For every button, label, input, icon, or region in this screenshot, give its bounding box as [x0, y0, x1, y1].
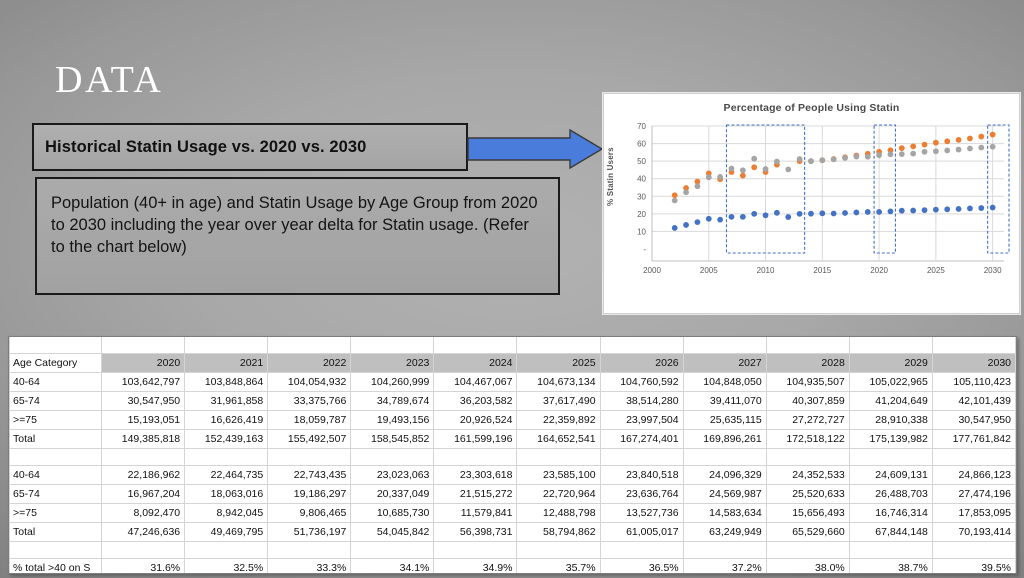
table-cell [102, 449, 185, 466]
table-cell [185, 449, 268, 466]
table-cell [600, 337, 683, 354]
table-year-header: 2025 [517, 354, 600, 373]
chart-x-tick: 2010 [757, 266, 775, 275]
chart-point [740, 173, 746, 179]
table-body: Age Category2020202120222023202420252026… [10, 337, 1016, 574]
table-cell [517, 337, 600, 354]
table-cell: 32.5% [185, 559, 268, 575]
table-cell: 24,569,987 [683, 485, 766, 504]
table-spacer-row [10, 337, 1016, 354]
chart-point [683, 222, 689, 228]
table-cell: 54,045,842 [351, 523, 434, 542]
table-cell: 24,096,329 [683, 466, 766, 485]
table-cell: 12,488,798 [517, 504, 600, 523]
table-cell: 20,926,524 [434, 411, 517, 430]
table-year-header: 2022 [268, 354, 351, 373]
table-cell: 31,961,858 [185, 392, 268, 411]
chart-y-tick: 50 [637, 157, 646, 166]
table-cell: 30,547,950 [932, 411, 1015, 430]
heading-text: Historical Statin Usage vs. 2020 vs. 203… [34, 138, 366, 157]
chart-point [706, 216, 712, 222]
table-cell [849, 542, 932, 559]
chart-y-tick: 70 [637, 122, 646, 131]
chart-point [944, 206, 950, 212]
table-cell: 22,186,962 [102, 466, 185, 485]
table-cell: 39.5% [932, 559, 1015, 575]
table-row[interactable]: 40-64103,642,797103,848,864104,054,93210… [10, 373, 1016, 392]
chart-point [706, 174, 712, 180]
table-cell: 63,249,949 [683, 523, 766, 542]
table-cell: 104,260,999 [351, 373, 434, 392]
table-cell: 15,193,051 [102, 411, 185, 430]
chart-point [990, 144, 996, 150]
table-cell: 27,474,196 [932, 485, 1015, 504]
chart-point [978, 205, 984, 211]
chart-point [967, 146, 973, 152]
table-cell [932, 542, 1015, 559]
chart-point [922, 149, 928, 155]
description-callout-box: Population (40+ in age) and Statin Usage… [35, 177, 560, 295]
table-cell [683, 337, 766, 354]
table-cell: 41,204,649 [849, 392, 932, 411]
chart-point [978, 134, 984, 140]
table-year-header: 2020 [102, 354, 185, 373]
table-row-label: >=75 [10, 411, 102, 430]
chart-y-tick: - [643, 245, 646, 254]
table-row-label: % total >40 on S [10, 559, 102, 575]
table-cell: 103,848,864 [185, 373, 268, 392]
table-row[interactable]: 40-6422,186,96222,464,73522,743,43523,02… [10, 466, 1016, 485]
table-cell: 161,599,196 [434, 430, 517, 449]
table-cell: 51,736,197 [268, 523, 351, 542]
chart-point [763, 212, 769, 218]
chart-point [933, 140, 939, 146]
chart-title: Percentage of People Using Statin [604, 102, 1019, 114]
page-title: DATA [55, 61, 163, 99]
chart-x-tick: 2015 [813, 266, 831, 275]
table-cell: 23,997,504 [600, 411, 683, 430]
table-row[interactable]: >=758,092,4708,942,0459,806,46510,685,73… [10, 504, 1016, 523]
table-cell: 21,515,272 [434, 485, 517, 504]
table-cell: 103,642,797 [102, 373, 185, 392]
chart-point [865, 209, 871, 215]
chart-point [967, 136, 973, 142]
table-cell: 104,935,507 [766, 373, 849, 392]
table-year-header: 2023 [351, 354, 434, 373]
table-year-header: 2021 [185, 354, 268, 373]
chart-x-tick: 2005 [700, 266, 718, 275]
chart-point [695, 183, 701, 189]
table-cell: 38.0% [766, 559, 849, 575]
chart-point [751, 211, 757, 217]
table-cell: 13,527,736 [600, 504, 683, 523]
table-cell: 105,110,423 [932, 373, 1015, 392]
table-cell [351, 449, 434, 466]
table-year-header: 2024 [434, 354, 517, 373]
table-cell: 18,059,787 [268, 411, 351, 430]
table-row[interactable]: Total149,385,818152,439,163155,492,50715… [10, 430, 1016, 449]
chart-point [751, 156, 757, 162]
chart-point [899, 208, 905, 214]
chart-point [717, 217, 723, 223]
table-cell [268, 449, 351, 466]
table-cell: 18,063,016 [185, 485, 268, 504]
chart-x-tick: 2000 [643, 266, 661, 275]
chart-point [865, 154, 871, 160]
chart-point [910, 143, 916, 149]
table-cell: 65,529,660 [766, 523, 849, 542]
chart-point [899, 151, 905, 157]
chart-point [910, 151, 916, 157]
chart-point [842, 155, 848, 161]
chart-point [888, 151, 894, 157]
chart-point [774, 210, 780, 216]
chart-point [672, 192, 678, 198]
chart-point [797, 156, 803, 162]
chart-x-tick: 2025 [927, 266, 945, 275]
chart-point [944, 148, 950, 154]
table-cell: 39,411,070 [683, 392, 766, 411]
table-cell: 37,617,490 [517, 392, 600, 411]
chart-point [774, 159, 780, 165]
chart-y-tick: 30 [637, 192, 646, 201]
chart-point [740, 167, 746, 173]
table-cell: 15,656,493 [766, 504, 849, 523]
table-cell: 19,493,156 [351, 411, 434, 430]
table-cell: 56,398,731 [434, 523, 517, 542]
table-cell: 26,488,703 [849, 485, 932, 504]
chart-point [922, 207, 928, 213]
chart-point [831, 156, 837, 162]
table-cell: 61,005,017 [600, 523, 683, 542]
table-cell: 14,583,634 [683, 504, 766, 523]
chart-point [853, 154, 859, 160]
chart-point [785, 214, 791, 220]
table-cell [10, 542, 102, 559]
chart-y-tick: 40 [637, 175, 646, 184]
table-row-label: 40-64 [10, 373, 102, 392]
table-cell [268, 542, 351, 559]
table-cell: 38,514,280 [600, 392, 683, 411]
table-cell: 34.9% [434, 559, 517, 575]
chart-point [944, 138, 950, 144]
chart-y-tick: 10 [637, 227, 646, 236]
table-cell [434, 337, 517, 354]
table-cell: 104,054,932 [268, 373, 351, 392]
table-cell: 16,746,314 [849, 504, 932, 523]
table-cell: 177,761,842 [932, 430, 1015, 449]
table-cell: 104,848,050 [683, 373, 766, 392]
table-cell: 175,139,982 [849, 430, 932, 449]
chart-point [922, 142, 928, 148]
table-cell [351, 337, 434, 354]
table-cell: 149,385,818 [102, 430, 185, 449]
table-cell [185, 542, 268, 559]
table-cell [766, 449, 849, 466]
table-cell: 152,439,163 [185, 430, 268, 449]
table-row-label: 65-74 [10, 392, 102, 411]
table-year-header: 2026 [600, 354, 683, 373]
chart-point [876, 152, 882, 158]
chart-y-tick: 60 [637, 140, 646, 149]
statin-usage-chart: Percentage of People Using Statin % Stat… [603, 93, 1020, 314]
table-cell: 11,579,841 [434, 504, 517, 523]
chart-point [933, 207, 939, 213]
chart-point [819, 157, 825, 163]
table-cell: 22,720,964 [517, 485, 600, 504]
table-cell: 34,789,674 [351, 392, 434, 411]
table-cell: 172,518,122 [766, 430, 849, 449]
table-cell: 9,806,465 [268, 504, 351, 523]
table-year-header: 2029 [849, 354, 932, 373]
table-cell: 164,652,541 [517, 430, 600, 449]
table-cell [517, 542, 600, 559]
table-cell: 23,023,063 [351, 466, 434, 485]
chart-point [785, 167, 791, 173]
description-text: Population (40+ in age) and Statin Usage… [37, 179, 558, 259]
table-cell [102, 337, 185, 354]
table-row-label: Total [10, 523, 102, 542]
chart-point [751, 164, 757, 170]
table-cell [185, 337, 268, 354]
table-year-header: 2030 [932, 354, 1015, 373]
table-cell: 8,092,470 [102, 504, 185, 523]
table-cell: 16,626,419 [185, 411, 268, 430]
table-cell: 30,547,950 [102, 392, 185, 411]
table-cell [268, 337, 351, 354]
chart-point [695, 219, 701, 225]
table-cell: 31.6% [102, 559, 185, 575]
table-header-row: Age Category2020202120222023202420252026… [10, 354, 1016, 373]
table-cell: 22,464,735 [185, 466, 268, 485]
table-year-header: 2028 [766, 354, 849, 373]
table-row[interactable]: 65-7430,547,95031,961,85833,375,76634,78… [10, 392, 1016, 411]
table-cell: 28,910,338 [849, 411, 932, 430]
chart-x-tick: 2030 [984, 266, 1002, 275]
chart-highlight-year-2020 [874, 125, 895, 253]
table-cell: 27,272,727 [766, 411, 849, 430]
chart-point [729, 166, 735, 172]
table-cell: 104,673,134 [517, 373, 600, 392]
table-cell: 17,853,095 [932, 504, 1015, 523]
data-table-container[interactable]: Age Category2020202120222023202420252026… [8, 336, 1017, 574]
table-cell: 104,467,067 [434, 373, 517, 392]
table-cell: 167,274,401 [600, 430, 683, 449]
chart-point [797, 211, 803, 217]
table-cell: 36,203,582 [434, 392, 517, 411]
chart-point [672, 225, 678, 231]
chart-point [808, 211, 814, 217]
table-cell: 37.2% [683, 559, 766, 575]
chart-point [819, 210, 825, 216]
right-arrow-icon [466, 128, 604, 170]
table-year-header: 2027 [683, 354, 766, 373]
table-cell: 169,896,261 [683, 430, 766, 449]
table-cell: 70,193,414 [932, 523, 1015, 542]
table-cell: 23,636,764 [600, 485, 683, 504]
table-cell [849, 337, 932, 354]
chart-point [672, 198, 678, 204]
table-cell: 23,303,618 [434, 466, 517, 485]
table-cell [10, 337, 102, 354]
table-cell: 58,794,862 [517, 523, 600, 542]
table-cell [600, 449, 683, 466]
chart-point [978, 145, 984, 151]
table-row[interactable]: Total47,246,63649,469,79551,736,19754,04… [10, 523, 1016, 542]
table-cell [600, 542, 683, 559]
table-cell: 47,246,636 [102, 523, 185, 542]
chart-x-tick: 2020 [870, 266, 888, 275]
table-cell [766, 337, 849, 354]
table-cell: 10,685,730 [351, 504, 434, 523]
chart-highlight-year-2030 [988, 125, 1009, 253]
table-cell [849, 449, 932, 466]
chart-point [933, 148, 939, 154]
table-cell [434, 449, 517, 466]
table-cell: 24,609,131 [849, 466, 932, 485]
table-cell: 42,101,439 [932, 392, 1015, 411]
table-cell [351, 542, 434, 559]
table-row-label: Total [10, 430, 102, 449]
chart-point [831, 211, 837, 217]
chart-point [967, 206, 973, 212]
table-cell: 22,359,892 [517, 411, 600, 430]
chart-point [842, 210, 848, 216]
table-cell: 67,844,148 [849, 523, 932, 542]
table-cell: 23,585,100 [517, 466, 600, 485]
presentation-slide: DATA Historical Statin Usage vs. 2020 vs… [0, 0, 1024, 578]
table-cell: 19,186,297 [268, 485, 351, 504]
table-corner-label: Age Category [10, 354, 102, 373]
table-cell: 33,375,766 [268, 392, 351, 411]
chart-point [717, 174, 723, 180]
table-row[interactable]: % total >40 on S31.6%32.5%33.3%34.1%34.9… [10, 559, 1016, 575]
table-cell: 36.5% [600, 559, 683, 575]
table-cell: 25,635,115 [683, 411, 766, 430]
chart-point [729, 214, 735, 220]
table-row-label: 40-64 [10, 466, 102, 485]
table-cell: 24,866,123 [932, 466, 1015, 485]
table-cell: 34.1% [351, 559, 434, 575]
table-row-label: 65-74 [10, 485, 102, 504]
table-cell [434, 542, 517, 559]
table-cell: 33.3% [268, 559, 351, 575]
table-cell: 105,022,965 [849, 373, 932, 392]
table-cell: 49,469,795 [185, 523, 268, 542]
table-cell: 40,307,859 [766, 392, 849, 411]
table-cell: 25,520,633 [766, 485, 849, 504]
chart-point [763, 166, 769, 172]
statin-data-table: Age Category2020202120222023202420252026… [9, 337, 1016, 574]
table-cell: 22,743,435 [268, 466, 351, 485]
chart-point [740, 214, 746, 220]
table-cell: 35.7% [517, 559, 600, 575]
table-cell: 104,760,592 [600, 373, 683, 392]
chart-point [956, 206, 962, 212]
chart-point [899, 145, 905, 151]
table-cell [766, 542, 849, 559]
table-row-label: >=75 [10, 504, 102, 523]
chart-point [956, 137, 962, 143]
table-row[interactable]: >=7515,193,05116,626,41918,059,78719,493… [10, 411, 1016, 430]
table-cell: 20,337,049 [351, 485, 434, 504]
table-cell [102, 542, 185, 559]
table-cell [683, 542, 766, 559]
table-cell: 24,352,533 [766, 466, 849, 485]
table-cell: 38.7% [849, 559, 932, 575]
table-row[interactable]: 65-7416,967,20418,063,01619,186,29720,33… [10, 485, 1016, 504]
chart-point [876, 209, 882, 215]
table-cell: 155,492,507 [268, 430, 351, 449]
table-cell: 8,942,045 [185, 504, 268, 523]
table-spacer-row [10, 542, 1016, 559]
chart-point [956, 147, 962, 153]
chart-point [808, 158, 814, 164]
chart-point [990, 205, 996, 211]
table-cell [683, 449, 766, 466]
table-cell: 23,840,518 [600, 466, 683, 485]
table-cell: 158,545,852 [351, 430, 434, 449]
chart-plot-area: -102030405060702000200520102015202020252… [604, 116, 1019, 276]
table-cell [10, 449, 102, 466]
chart-point [853, 210, 859, 216]
chart-point [910, 208, 916, 214]
chart-point [683, 189, 689, 195]
table-cell: 16,967,204 [102, 485, 185, 504]
heading-callout-box: Historical Statin Usage vs. 2020 vs. 203… [32, 123, 468, 171]
table-cell [932, 449, 1015, 466]
table-cell [932, 337, 1015, 354]
table-spacer-row [10, 449, 1016, 466]
table-cell [517, 449, 600, 466]
chart-y-tick: 20 [637, 210, 646, 219]
chart-point [990, 132, 996, 138]
chart-point [888, 208, 894, 214]
